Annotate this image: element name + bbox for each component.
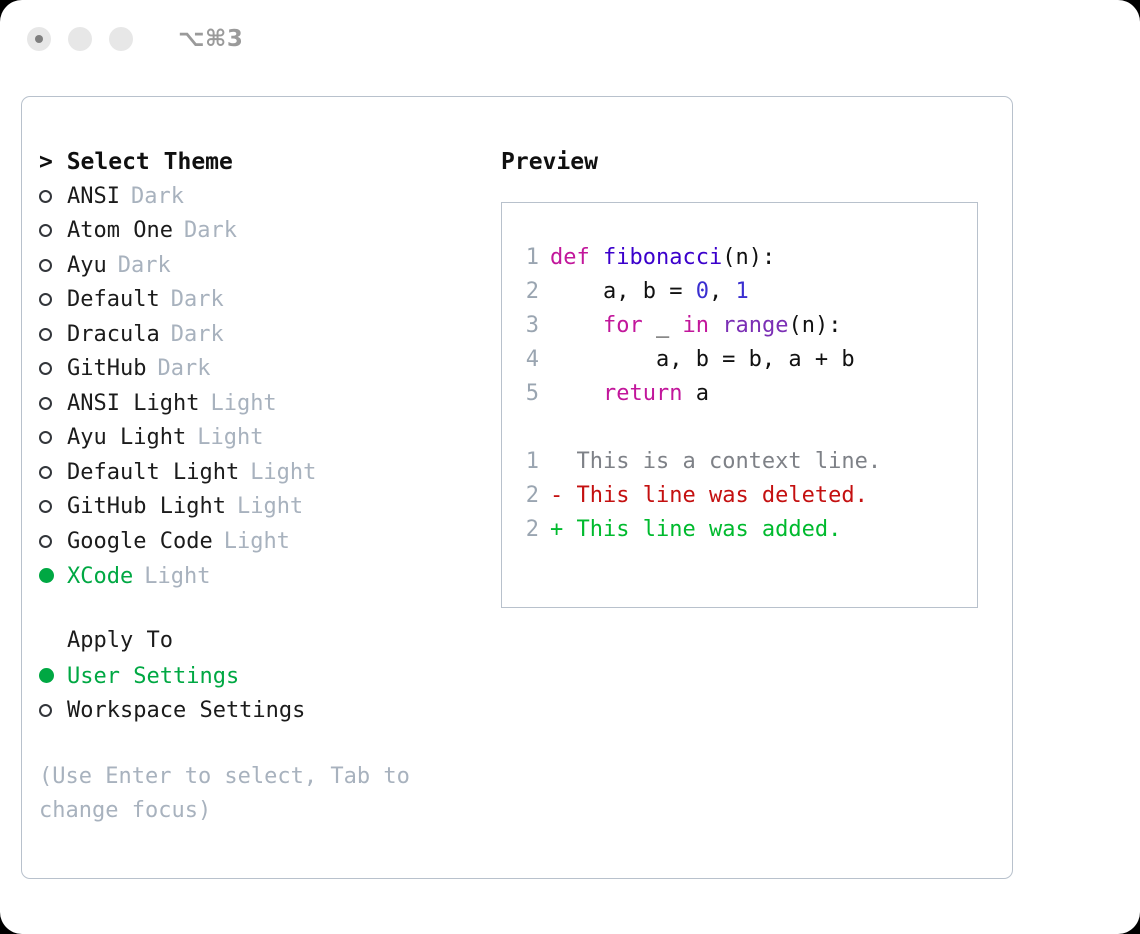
traffic-light-minimize[interactable] bbox=[68, 27, 92, 51]
window-controls bbox=[27, 27, 133, 51]
window-titlebar: ⌥⌘3 bbox=[0, 0, 1140, 78]
theme-radio bbox=[39, 179, 67, 213]
code-token-call: range bbox=[722, 313, 788, 338]
code-line: 2 a, b = 0, 1 bbox=[517, 275, 969, 309]
code-token-plain bbox=[550, 313, 603, 338]
preview-box: 1def fibonacci(n):2 a, b = 0, 13 for _ i… bbox=[501, 202, 978, 608]
diff-line: 2- This line was deleted. bbox=[517, 479, 969, 513]
theme-name: GitHub bbox=[67, 352, 146, 386]
theme-variant-tag: Light bbox=[197, 421, 263, 455]
apply-to-section: Apply To User SettingsWorkspace Settings bbox=[39, 624, 499, 728]
theme-name: Ayu Light bbox=[67, 421, 186, 455]
code-token-plain bbox=[550, 381, 603, 406]
theme-list-item[interactable]: GitHub LightLight bbox=[39, 490, 499, 525]
traffic-light-maximize[interactable] bbox=[109, 27, 133, 51]
diff-text: This is a context line. bbox=[577, 449, 882, 474]
theme-radio bbox=[39, 352, 67, 386]
code-line: 3 for _ in range(n): bbox=[517, 309, 969, 343]
theme-list-item[interactable]: ANSIDark bbox=[39, 179, 499, 214]
theme-list-item[interactable]: Default LightLight bbox=[39, 455, 499, 490]
theme-name: Default Light bbox=[67, 456, 239, 490]
apply-radio-selected bbox=[39, 658, 67, 692]
theme-name: ANSI Light bbox=[67, 387, 199, 421]
code-line: 1def fibonacci(n): bbox=[517, 241, 969, 275]
theme-radio bbox=[39, 421, 67, 455]
theme-radio bbox=[39, 524, 67, 558]
radio-selected-icon bbox=[39, 668, 54, 683]
apply-to-label: Workspace Settings bbox=[67, 694, 305, 728]
theme-list-item[interactable]: XCodeLight bbox=[39, 559, 499, 595]
code-token-num: 0 bbox=[696, 279, 709, 304]
theme-name: Default bbox=[67, 283, 160, 317]
apply-to-title: Apply To bbox=[39, 624, 499, 658]
theme-list-item[interactable]: DraculaDark bbox=[39, 317, 499, 352]
diff-marker: + bbox=[550, 517, 577, 542]
code-line: 5 return a bbox=[517, 377, 969, 411]
code-preview: 1def fibonacci(n):2 a, b = 0, 13 for _ i… bbox=[517, 241, 969, 547]
code-token-kw: def bbox=[550, 245, 603, 270]
theme-variant-tag: Light bbox=[250, 456, 316, 490]
theme-name: Google Code bbox=[67, 525, 213, 559]
radio-unselected-icon bbox=[39, 397, 52, 410]
code-token-kw: in bbox=[682, 313, 709, 338]
code-token-punct: (n): bbox=[722, 245, 775, 270]
code-token-plain: a bbox=[682, 381, 709, 406]
code-token-kw: return bbox=[603, 381, 682, 406]
code-line-number: 2 bbox=[517, 275, 539, 309]
theme-variant-tag: Dark bbox=[131, 180, 184, 214]
diff-line-number: 2 bbox=[517, 513, 539, 547]
theme-list-item[interactable]: ANSI LightLight bbox=[39, 386, 499, 421]
theme-variant-tag: Light bbox=[144, 560, 210, 594]
main-panel: > Select Theme ANSIDarkAtom OneDarkAyuDa… bbox=[21, 96, 1013, 879]
theme-variant-tag: Dark bbox=[157, 352, 210, 386]
theme-name: ANSI bbox=[67, 180, 120, 214]
code-token-plain: _ bbox=[643, 313, 683, 338]
code-token-plain bbox=[709, 313, 722, 338]
app-window: ⌥⌘3 > Select Theme ANSIDarkAtom OneDarkA… bbox=[0, 0, 1140, 934]
apply-to-option[interactable]: Workspace Settings bbox=[39, 694, 499, 729]
theme-radio bbox=[39, 455, 67, 489]
theme-variant-tag: Dark bbox=[171, 318, 224, 352]
apply-to-option[interactable]: User Settings bbox=[39, 658, 499, 694]
theme-list-item[interactable]: Ayu LightLight bbox=[39, 421, 499, 456]
code-token-plain: , bbox=[709, 279, 736, 304]
apply-to-options: User SettingsWorkspace Settings bbox=[39, 658, 499, 728]
apply-radio bbox=[39, 694, 67, 728]
radio-unselected-icon bbox=[39, 293, 52, 306]
radio-unselected-icon bbox=[39, 190, 52, 203]
code-line-number: 5 bbox=[517, 377, 539, 411]
theme-variant-tag: Dark bbox=[171, 283, 224, 317]
radio-selected-icon bbox=[39, 568, 54, 583]
code-token-punct: (n): bbox=[788, 313, 841, 338]
diff-sample: 1 This is a context line.2- This line wa… bbox=[517, 445, 969, 547]
radio-unselected-icon bbox=[39, 224, 52, 237]
theme-list-item[interactable]: DefaultDark bbox=[39, 283, 499, 318]
diff-line-number: 2 bbox=[517, 479, 539, 513]
theme-radio bbox=[39, 386, 67, 420]
apply-to-label: User Settings bbox=[67, 660, 239, 694]
theme-list-item[interactable]: Google CodeLight bbox=[39, 524, 499, 559]
active-dot-icon bbox=[35, 35, 43, 43]
code-token-num: 1 bbox=[735, 279, 748, 304]
code-token-fn: fibonacci bbox=[603, 245, 722, 270]
theme-selector-column: > Select Theme ANSIDarkAtom OneDarkAyuDa… bbox=[39, 145, 499, 828]
theme-name: GitHub Light bbox=[67, 490, 226, 524]
diff-line: 2+ This line was added. bbox=[517, 513, 969, 547]
theme-variant-tag: Light bbox=[237, 490, 303, 524]
window-title: ⌥⌘3 bbox=[178, 26, 243, 52]
diff-line-number: 1 bbox=[517, 445, 539, 479]
code-token-kw: for bbox=[603, 313, 643, 338]
select-theme-heading: > Select Theme bbox=[39, 145, 499, 179]
theme-list-item[interactable]: AyuDark bbox=[39, 248, 499, 283]
panel-columns: > Select Theme ANSIDarkAtom OneDarkAyuDa… bbox=[22, 97, 1012, 878]
radio-unselected-icon bbox=[39, 431, 52, 444]
diff-marker bbox=[550, 449, 577, 474]
code-sample: 1def fibonacci(n):2 a, b = 0, 13 for _ i… bbox=[517, 241, 969, 411]
theme-name: Ayu bbox=[67, 249, 107, 283]
theme-name: Atom One bbox=[67, 214, 173, 248]
code-line: 4 a, b = b, a + b bbox=[517, 343, 969, 377]
diff-text: This line was deleted. bbox=[577, 483, 868, 508]
radio-unselected-icon bbox=[39, 704, 52, 717]
theme-list: ANSIDarkAtom OneDarkAyuDarkDefaultDarkDr… bbox=[39, 179, 499, 594]
theme-variant-tag: Dark bbox=[184, 214, 237, 248]
diff-marker: - bbox=[550, 483, 577, 508]
theme-list-item[interactable]: GitHubDark bbox=[39, 352, 499, 387]
theme-variant-tag: Light bbox=[210, 387, 276, 421]
theme-variant-tag: Light bbox=[224, 525, 290, 559]
preview-column: Preview 1def fibonacci(n):2 a, b = 0, 13… bbox=[501, 145, 1001, 608]
code-line-number: 3 bbox=[517, 309, 539, 343]
theme-name: XCode bbox=[67, 560, 133, 594]
theme-radio-selected bbox=[39, 559, 67, 593]
theme-radio bbox=[39, 214, 67, 248]
preview-title: Preview bbox=[501, 145, 1001, 179]
traffic-light-close[interactable] bbox=[27, 27, 51, 51]
theme-name: Dracula bbox=[67, 318, 160, 352]
radio-unselected-icon bbox=[39, 328, 52, 341]
diff-text: This line was added. bbox=[577, 517, 842, 542]
radio-unselected-icon bbox=[39, 500, 52, 513]
theme-radio bbox=[39, 283, 67, 317]
code-line-number: 4 bbox=[517, 343, 539, 377]
theme-variant-tag: Dark bbox=[118, 249, 171, 283]
radio-unselected-icon bbox=[39, 466, 52, 479]
radio-unselected-icon bbox=[39, 535, 52, 548]
diff-line: 1 This is a context line. bbox=[517, 445, 969, 479]
theme-list-item[interactable]: Atom OneDark bbox=[39, 214, 499, 249]
code-line-number: 1 bbox=[517, 241, 539, 275]
keyboard-hint: (Use Enter to select, Tab to change focu… bbox=[39, 760, 439, 828]
code-token-plain: a, b = bbox=[550, 279, 696, 304]
radio-unselected-icon bbox=[39, 362, 52, 375]
code-token-plain: a, b = b, a + b bbox=[550, 347, 855, 372]
theme-radio bbox=[39, 248, 67, 282]
theme-radio bbox=[39, 317, 67, 351]
radio-unselected-icon bbox=[39, 259, 52, 272]
theme-radio bbox=[39, 490, 67, 524]
